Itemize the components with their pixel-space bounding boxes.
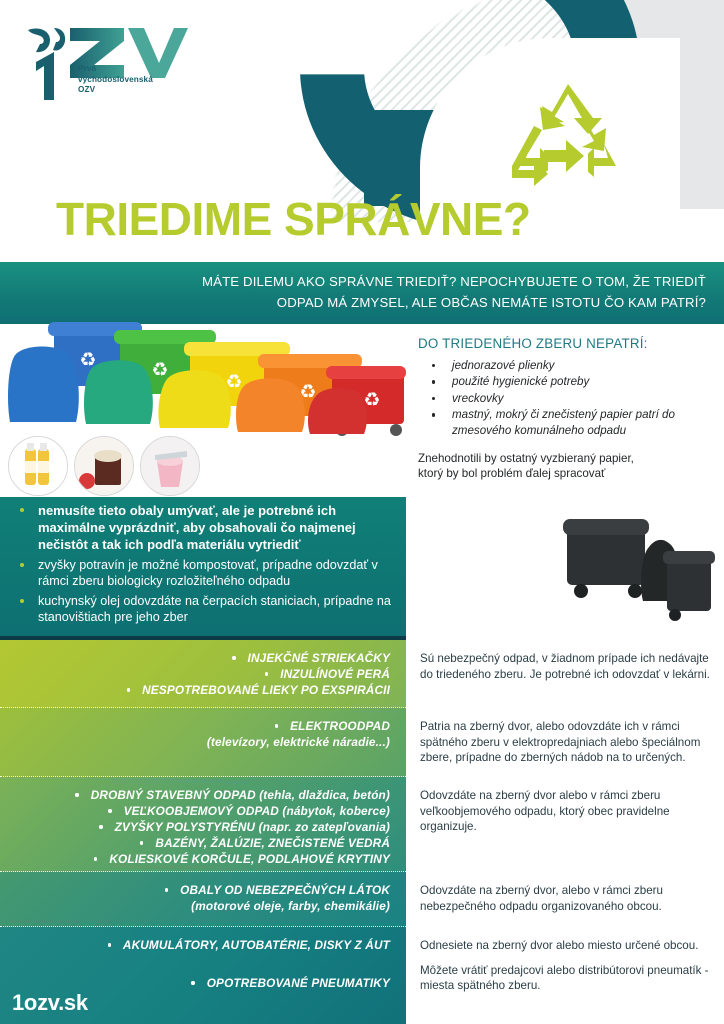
- category-label: ELEKTROODPAD: [290, 719, 390, 733]
- logo-subtitle-line2: východoslovenská: [78, 75, 188, 86]
- not-accepted-block: DO TRIEDENÉHO ZBERU NEPATRÍ: jednorazové…: [418, 336, 718, 481]
- table-row-description: Odovzdáte na zberný dvor alebo v rámci z…: [406, 777, 724, 872]
- logo-subtitle: Prvá východoslovenská OZV: [78, 64, 188, 96]
- not-accepted-note-line2: ktorý by bol problém ďalej spracovať: [418, 466, 718, 481]
- table-row-description: Patria na zberný dvor, alebo odovzdáte i…: [406, 708, 724, 777]
- logo-subtitle-line3: OZV: [78, 85, 188, 96]
- not-accepted-note-line1: Znehodnotili by ostatný vyzbieraný papie…: [418, 451, 718, 466]
- svg-text:♻: ♻: [363, 389, 380, 411]
- tips-list: nemusíte tieto obaly umývať, ale je potr…: [14, 502, 394, 629]
- category-label: VEĽKOOBJEMOVÝ ODPAD (nábytok, koberce): [124, 804, 390, 818]
- category-item: OPOTREBOVANÉ PNEUMATIKY: [10, 975, 392, 991]
- recycling-bins-photo: ♻ ♻ ♻ ♻ ♻: [2, 322, 406, 440]
- bullet-icon: [94, 857, 97, 860]
- not-accepted-heading: DO TRIEDENÉHO ZBERU NEPATRÍ:: [418, 336, 718, 351]
- table-row-categories: ELEKTROODPAD (televízory, elektrické nár…: [0, 708, 406, 777]
- footer-website-url[interactable]: 1ozv.sk: [12, 990, 88, 1016]
- not-accepted-list: jednorazové plienky použité hygienické p…: [418, 358, 718, 438]
- description-paragraph: Môžete vrátiť predajcovi alebo distribút…: [420, 963, 712, 994]
- intro-band: MÁTE DILEMU AKO SPRÁVNE TRIEDIŤ? NEPOCHY…: [0, 262, 724, 324]
- bullet-icon: [265, 672, 268, 675]
- table-row-categories: INJEKČNÉ STRIEKAČKY INZULÍNOVÉ PERÁ NESP…: [0, 640, 406, 708]
- category-label: NESPOTREBOVANÉ LIEKY PO EXSPIRÁCII: [142, 683, 390, 697]
- recycle-icon: [508, 78, 628, 186]
- page-title: TRIEDIME SPRÁVNE?: [56, 196, 531, 242]
- jam-jar-photo: [74, 436, 134, 496]
- svg-text:♻: ♻: [151, 359, 168, 381]
- table-row-description: Odnesiete na zberný dvor alebo miesto ur…: [406, 927, 724, 1024]
- table-row-description: Sú nebezpečný odpad, v žiadnom prípade i…: [406, 640, 724, 708]
- table-row: AKUMULÁTORY, AUTOBATÉRIE, DISKY Z ÁUT OP…: [0, 927, 724, 1024]
- category-label: DROBNÝ STAVEBNÝ ODPAD (tehla, dlaždica, …: [91, 788, 390, 802]
- description-paragraph: Sú nebezpečný odpad, v žiadnom prípade i…: [420, 651, 712, 682]
- category-label: KOLIESKOVÉ KORČULE, PODLAHOVÉ KRYTINY: [109, 852, 390, 866]
- black-bins-photo: [545, 503, 717, 621]
- tips-item: kuchynský olej odovzdáte na čerpacích st…: [14, 593, 394, 626]
- description-paragraph: Odnesiete na zberný dvor alebo miesto ur…: [420, 938, 712, 954]
- intro-text: MÁTE DILEMU AKO SPRÁVNE TRIEDIŤ? NEPOCHY…: [16, 271, 706, 313]
- table-row: INJEKČNÉ STRIEKAČKY INZULÍNOVÉ PERÁ NESP…: [0, 640, 724, 708]
- not-accepted-item: použité hygienické potreby: [418, 374, 718, 389]
- bullet-icon: [275, 724, 278, 727]
- oil-bottles-photo: [8, 436, 68, 496]
- category-label: INJEKČNÉ STRIEKAČKY: [248, 651, 390, 665]
- table-row-categories: OBALY OD NEBEZPEČNÝCH LÁTOK (motorové ol…: [0, 872, 406, 927]
- category-label: OBALY OD NEBEZPEČNÝCH LÁTOK: [180, 883, 390, 897]
- category-label: BAZÉNY, ŽALÚZIE, ZNEČISTENÉ VEDRÁ: [155, 836, 390, 850]
- category-item: VEĽKOOBJEMOVÝ ODPAD (nábytok, koberce): [10, 803, 392, 819]
- table-row-categories: DROBNÝ STAVEBNÝ ODPAD (tehla, dlaždica, …: [0, 777, 406, 872]
- brand-logo: Prvá východoslovenská OZV: [18, 22, 188, 102]
- table-row: DROBNÝ STAVEBNÝ ODPAD (tehla, dlaždica, …: [0, 777, 724, 872]
- bullet-icon: [127, 688, 130, 691]
- logo-subtitle-line1: Prvá: [78, 64, 188, 75]
- tips-item: zvyšky potravín je možné kompostovať, pr…: [14, 557, 394, 590]
- poster: Prvá východoslovenská OZV: [0, 0, 724, 1024]
- description-paragraph: Odovzdáte na zberný dvor alebo v rámci z…: [420, 788, 712, 835]
- description-paragraph: Odovzdáte na zberný dvor, alebo v rámci …: [420, 883, 712, 914]
- intro-line-1: MÁTE DILEMU AKO SPRÁVNE TRIEDIŤ? NEPOCHY…: [202, 274, 706, 289]
- waste-category-table: INJEKČNÉ STRIEKAČKY INZULÍNOVÉ PERÁ NESP…: [0, 640, 724, 1024]
- category-item: ZVYŠKY POLYSTYRÉNU (napr. zo zatepľovani…: [10, 819, 392, 835]
- category-item: INZULÍNOVÉ PERÁ: [10, 666, 392, 682]
- category-item: OBALY OD NEBEZPEČNÝCH LÁTOK (motorové ol…: [10, 882, 392, 914]
- description-paragraph: Patria na zberný dvor, alebo odovzdáte i…: [420, 719, 712, 766]
- not-accepted-item: jednorazové plienky: [418, 358, 718, 373]
- category-item: NESPOTREBOVANÉ LIEKY PO EXSPIRÁCII: [10, 682, 392, 698]
- category-sublabel: (motorové oleje, farby, chemikálie): [10, 898, 390, 914]
- category-item: ELEKTROODPAD (televízory, elektrické nár…: [10, 718, 392, 750]
- product-photo-circles: [4, 436, 204, 498]
- bullet-icon: [108, 809, 111, 812]
- table-row: OBALY OD NEBEZPEČNÝCH LÁTOK (motorové ol…: [0, 872, 724, 927]
- not-accepted-note: Znehodnotili by ostatný vyzbieraný papie…: [418, 451, 718, 481]
- yogurt-cup-photo: [140, 436, 200, 496]
- category-item: AKUMULÁTORY, AUTOBATÉRIE, DISKY Z ÁUT: [10, 937, 392, 953]
- bullet-icon: [232, 656, 235, 659]
- bullet-icon: [165, 888, 168, 891]
- category-sublabel: (televízory, elektrické náradie...): [10, 734, 390, 750]
- intro-line-2: ODPAD MÁ ZMYSEL, ALE OBČAS NEMÁTE ISTOTU…: [16, 292, 706, 313]
- category-item: KOLIESKOVÉ KORČULE, PODLAHOVÉ KRYTINY: [10, 851, 392, 867]
- category-item: DROBNÝ STAVEBNÝ ODPAD (tehla, dlaždica, …: [10, 787, 392, 803]
- bullet-icon: [99, 825, 102, 828]
- table-row: ELEKTROODPAD (televízory, elektrické nár…: [0, 708, 724, 777]
- category-item: BAZÉNY, ŽALÚZIE, ZNEČISTENÉ VEDRÁ: [10, 835, 392, 851]
- poster-header: Prvá východoslovenská OZV: [0, 0, 724, 256]
- bullet-icon: [191, 981, 194, 984]
- bullet-icon: [108, 943, 111, 946]
- category-label: INZULÍNOVÉ PERÁ: [280, 667, 390, 681]
- tips-item: nemusíte tieto obaly umývať, ale je potr…: [14, 502, 394, 554]
- table-row-description: Odovzdáte na zberný dvor, alebo v rámci …: [406, 872, 724, 927]
- not-accepted-item: vreckovky: [418, 391, 718, 406]
- bullet-icon: [140, 841, 143, 844]
- table-row-categories: AKUMULÁTORY, AUTOBATÉRIE, DISKY Z ÁUT OP…: [0, 927, 406, 1024]
- bullet-icon: [75, 793, 78, 796]
- not-accepted-item: mastný, mokrý či znečistený papier patrí…: [418, 407, 718, 438]
- category-label: AKUMULÁTORY, AUTOBATÉRIE, DISKY Z ÁUT: [123, 938, 390, 952]
- category-label: ZVYŠKY POLYSTYRÉNU (napr. zo zatepľovani…: [115, 820, 390, 834]
- category-label: OPOTREBOVANÉ PNEUMATIKY: [207, 976, 390, 990]
- category-item: INJEKČNÉ STRIEKAČKY: [10, 650, 392, 666]
